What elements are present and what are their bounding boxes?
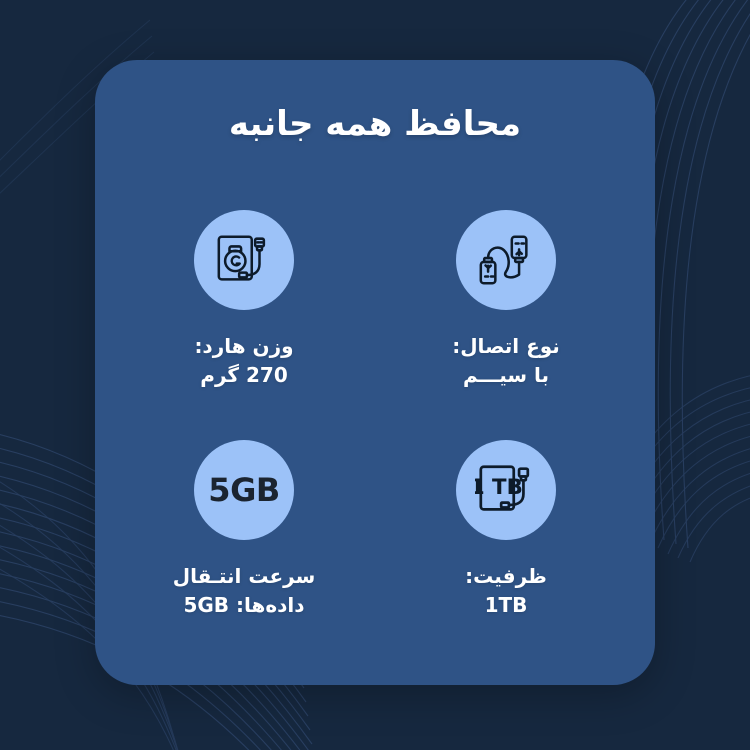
drive-weight-caption: وزن هارد: 270 گرم (194, 332, 293, 390)
connection-type-badge (456, 210, 556, 310)
connection-type-label: نوع اتصال: (452, 332, 560, 361)
transfer-speed-badge-text: 5GB (208, 471, 279, 509)
page-title: محافظ همه جانبه (95, 104, 655, 144)
feature-capacity: 1 TB ظرفیت: 1TB (375, 430, 637, 660)
product-spec-graphic: محافظ همه جانبه (0, 0, 750, 750)
feature-connection-type: نوع اتصال: با سیـــم (375, 200, 637, 430)
usb-cable-icon (475, 229, 537, 291)
transfer-speed-caption: سرعت انتـقال داده‌ها: 5GB (173, 562, 316, 620)
connection-type-value: با سیـــم (452, 361, 560, 390)
transfer-speed-value: داده‌ها: 5GB (173, 591, 316, 620)
spec-card: محافظ همه جانبه (95, 60, 655, 685)
one-terabyte-drive-icon: 1 TB (475, 459, 537, 521)
external-hard-drive-icon (213, 229, 275, 291)
feature-drive-weight: وزن هارد: 270 گرم (113, 200, 375, 430)
transfer-speed-badge: 5GB (194, 440, 294, 540)
capacity-value: 1TB (465, 591, 547, 620)
drive-weight-label: وزن هارد: (194, 332, 293, 361)
transfer-speed-label: سرعت انتـقال (173, 562, 316, 591)
feature-transfer-speed: 5GB سرعت انتـقال داده‌ها: 5GB (113, 430, 375, 660)
connection-type-caption: نوع اتصال: با سیـــم (452, 332, 560, 390)
svg-text:1 TB: 1 TB (475, 474, 523, 499)
feature-grid: نوع اتصال: با سیـــم (113, 200, 637, 659)
capacity-label: ظرفیت: (465, 562, 547, 591)
drive-weight-value: 270 گرم (194, 361, 293, 390)
drive-weight-badge (194, 210, 294, 310)
capacity-badge: 1 TB (456, 440, 556, 540)
capacity-caption: ظرفیت: 1TB (465, 562, 547, 620)
